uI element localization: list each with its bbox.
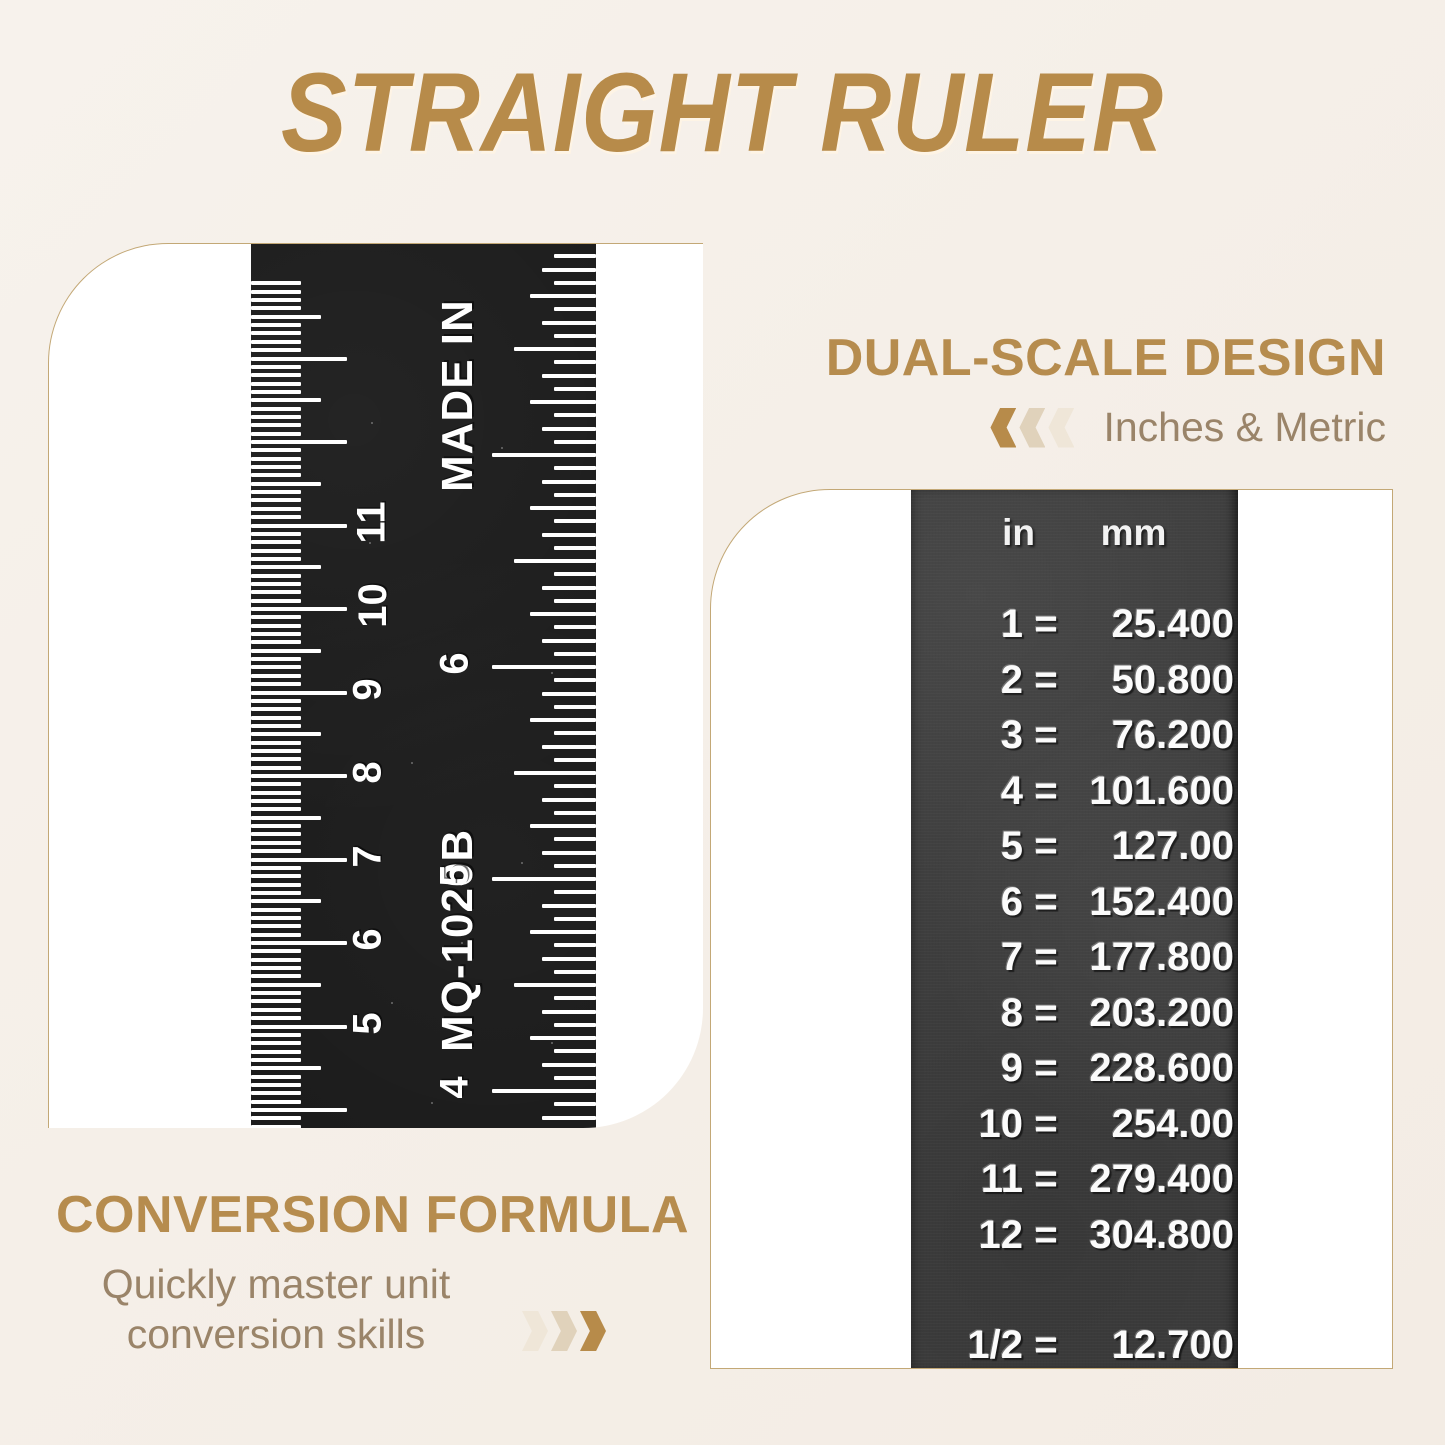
conversion-inch-value: 10 xyxy=(911,1102,1023,1147)
ruler-metric-tick xyxy=(251,348,301,352)
ruler-metric-tick xyxy=(251,1058,301,1062)
ruler-inch-tick xyxy=(542,1010,596,1014)
conversion-equals-sign: = xyxy=(1023,1157,1069,1202)
ruler-metric-tick xyxy=(251,415,301,419)
ruler-metric-tick xyxy=(251,665,301,669)
ruler-metric-tick xyxy=(251,682,301,686)
ruler-inch-tick xyxy=(554,546,596,550)
conversion-formula-heading: CONVERSION FORMULA xyxy=(56,1185,696,1245)
conversion-equals-sign: = xyxy=(1023,1213,1069,1258)
conversion-row: 7=177.800 xyxy=(911,935,1238,991)
ruler-metric-tick xyxy=(251,949,301,953)
conversion-mm-value: 50.800 xyxy=(1069,658,1234,703)
ruler-metric-tick xyxy=(251,1008,301,1012)
ruler-inch-tick xyxy=(530,718,596,722)
conversion-mm-value: 25.400 xyxy=(1069,602,1234,647)
ruler-metric-label-11: 11 xyxy=(350,501,395,543)
ruler-speckle xyxy=(391,1002,393,1004)
conversion-inch-value: 4 xyxy=(911,769,1023,814)
conversion-inch-value: 11 xyxy=(911,1157,1023,1202)
conversion-table-gap xyxy=(911,1268,1238,1323)
ruler-inch-label-5: 5 xyxy=(433,865,478,887)
conversion-inch-value: 12 xyxy=(911,1213,1023,1258)
ruler-metric-tick xyxy=(251,699,301,703)
ruler-metric-tick xyxy=(251,1041,301,1045)
ruler-metric-label-10: 10 xyxy=(351,583,396,628)
conversion-row: 1=25.400 xyxy=(911,602,1238,658)
ruler-inch-tick xyxy=(530,1036,596,1040)
dual-scale-subrow: Inches & Metric xyxy=(806,404,1386,451)
ruler-metric-tick xyxy=(251,448,301,452)
ruler-metric-tick xyxy=(251,382,301,386)
ruler-metric-tick xyxy=(251,1100,301,1104)
ruler-inch-tick xyxy=(554,1102,596,1106)
conversion-row: 6=152.400 xyxy=(911,880,1238,936)
conversion-mm-value: 228.600 xyxy=(1069,1046,1234,1091)
ruler-metric-tick xyxy=(251,365,301,369)
ruler-inch-tick xyxy=(554,731,596,735)
ruler-metric-tick xyxy=(251,599,301,603)
conversion-inch-value: 7 xyxy=(911,935,1023,980)
ruler-inch-tick xyxy=(542,268,596,272)
ruler-metric-tick xyxy=(251,916,301,920)
ruler-inch-tick xyxy=(554,996,596,1000)
conversion-equals-sign: = xyxy=(1023,658,1069,703)
ruler-inch-tick xyxy=(492,453,596,457)
ruler-metric-tick xyxy=(251,340,301,344)
ruler-metric-tick xyxy=(251,732,321,736)
ruler-inch-tick xyxy=(554,440,596,444)
ruler-photo-metric-inch: MQ-1020B MADE IN 567891011456 xyxy=(251,243,596,1128)
chevron-right-group xyxy=(522,1311,609,1351)
ruler-metric-tick xyxy=(251,498,301,502)
ruler-metric-label-8: 8 xyxy=(346,761,391,783)
ruler-inch-tick xyxy=(554,1023,596,1027)
conversion-mm-value: 279.400 xyxy=(1069,1157,1234,1202)
ruler-metric-tick xyxy=(251,490,301,494)
ruler-inch-tick xyxy=(554,970,596,974)
ruler-inch-tick xyxy=(554,678,596,682)
conversion-equals-sign: = xyxy=(1023,935,1069,980)
ruler-inch-tick xyxy=(542,321,596,325)
ruler-speckle xyxy=(369,542,371,544)
ruler-metric-tick xyxy=(251,390,301,394)
ruler-metric-tick xyxy=(251,924,301,928)
ruler-speckle xyxy=(501,447,503,449)
conversion-equals-sign: = xyxy=(1023,769,1069,814)
ruler-metric-tick xyxy=(251,1108,347,1112)
ruler-inch-tick xyxy=(554,599,596,603)
ruler-metric-tick xyxy=(251,1033,301,1037)
conversion-sub-line-2: conversion skills xyxy=(56,1309,496,1359)
ruler-metric-tick xyxy=(251,691,347,695)
ruler-inch-tick xyxy=(554,254,596,258)
ruler-inch-tick xyxy=(542,586,596,590)
ruler-metric-tick xyxy=(251,749,301,753)
ruler-inch-tick xyxy=(554,625,596,629)
conversion-mm-value: 203.200 xyxy=(1069,991,1234,1036)
ruler-inch-tick xyxy=(554,413,596,417)
ruler-inch-tick xyxy=(554,281,596,285)
conversion-sub-line-1: Quickly master unit xyxy=(56,1259,496,1309)
ruler-inch-tick xyxy=(554,519,596,523)
ruler-inch-tick xyxy=(554,1076,596,1080)
ruler-metric-tick xyxy=(251,582,301,586)
ruler-metric-tick xyxy=(251,507,301,511)
ruler-metric-label-6: 6 xyxy=(346,928,391,950)
ruler-inch-tick xyxy=(542,427,596,431)
right-product-card: in mm 1=25.4002=50.8003=76.2004=101.6005… xyxy=(710,489,1393,1369)
ruler-metric-tick xyxy=(251,657,301,661)
ruler-inch-tick xyxy=(554,811,596,815)
ruler-inch-tick xyxy=(492,877,596,881)
ruler-inch-tick xyxy=(542,639,596,643)
ruler-inch-label-6: 6 xyxy=(433,653,478,675)
ruler-metric-tick xyxy=(251,482,321,486)
ruler-metric-tick xyxy=(251,899,321,903)
ruler-metric-tick xyxy=(251,398,321,402)
ruler-inch-tick xyxy=(542,798,596,802)
chevron-right-mid-icon xyxy=(551,1311,577,1351)
conversion-mm-value: 177.800 xyxy=(1069,935,1234,980)
conversion-inch-value: 6 xyxy=(911,880,1023,925)
conversion-row: 10=254.00 xyxy=(911,1102,1238,1158)
chevron-right-light-icon xyxy=(522,1311,548,1351)
ruler-inch-tick xyxy=(554,864,596,868)
ruler-metric-tick xyxy=(251,465,301,469)
ruler-metric-tick xyxy=(251,724,301,728)
ruler-brand-label: MQ-1020B xyxy=(433,829,483,1052)
ruler-inch-tick xyxy=(554,890,596,894)
ruler-speckle xyxy=(551,672,553,674)
ruler-speckle xyxy=(431,1102,433,1104)
conversion-inch-value: 1/2 xyxy=(911,1323,1023,1368)
ruler-metric-tick xyxy=(251,874,301,878)
ruler-metric-tick xyxy=(251,991,301,995)
conversion-whole-rows: 1=25.4002=50.8003=76.2004=101.6005=127.0… xyxy=(911,602,1238,1268)
ruler-metric-tick xyxy=(251,1091,301,1095)
ruler-metric-label-9: 9 xyxy=(346,678,391,700)
ruler-metric-tick xyxy=(251,1016,301,1020)
ruler-metric-tick xyxy=(251,373,301,377)
ruler-metric-tick xyxy=(251,1075,301,1079)
ruler-metric-tick xyxy=(251,315,321,319)
ruler-inch-tick xyxy=(554,387,596,391)
ruler-inch-tick xyxy=(542,851,596,855)
left-product-card: MQ-1020B MADE IN 567891011456 xyxy=(48,243,703,1128)
conversion-row: 5=127.00 xyxy=(911,824,1238,880)
ruler-metric-tick xyxy=(251,782,301,786)
conversion-row: 9=228.600 xyxy=(911,1046,1238,1102)
ruler-metric-tick xyxy=(251,674,301,678)
ruler-metric-tick xyxy=(251,933,301,937)
ruler-inch-tick xyxy=(492,665,596,669)
ruler-inch-tick xyxy=(554,705,596,709)
conversion-mm-value: 127.00 xyxy=(1069,824,1234,869)
ruler-inch-tick xyxy=(554,493,596,497)
ruler-metric-tick xyxy=(251,1116,301,1120)
ruler-inch-tick xyxy=(554,466,596,470)
ruler-inch-tick xyxy=(554,652,596,656)
ruler-inch-tick xyxy=(554,1049,596,1053)
ruler-metric-tick xyxy=(251,866,301,870)
ruler-speckle xyxy=(551,1042,553,1044)
ruler-metric-tick xyxy=(251,615,301,619)
ruler-metric-tick xyxy=(251,966,301,970)
ruler-metric-tick xyxy=(251,841,301,845)
ruler-inch-tick xyxy=(554,572,596,576)
conversion-mm-value: 304.800 xyxy=(1069,1213,1234,1258)
ruler-inch-tick xyxy=(542,745,596,749)
ruler-inch-tick xyxy=(542,904,596,908)
ruler-inch-tick xyxy=(554,334,596,338)
dual-scale-subheading: Inches & Metric xyxy=(1103,404,1386,451)
ruler-inch-tick xyxy=(530,930,596,934)
conversion-row: 8=203.200 xyxy=(911,991,1238,1047)
ruler-metric-tick xyxy=(251,298,301,302)
ruler-metric-tick xyxy=(251,757,301,761)
ruler-metric-tick xyxy=(251,849,301,853)
ruler-inch-tick xyxy=(530,612,596,616)
ruler-metric-tick xyxy=(251,574,301,578)
conversion-inch-value: 9 xyxy=(911,1046,1023,1091)
ruler-inch-tick xyxy=(514,983,596,987)
conversion-row: 4=101.600 xyxy=(911,769,1238,825)
ruler-inch-tick xyxy=(530,506,596,510)
ruler-metric-tick xyxy=(251,432,301,436)
ruler-metric-tick xyxy=(251,983,321,987)
ruler-metric-tick xyxy=(251,1025,347,1029)
conversion-inch-value: 8 xyxy=(911,991,1023,1036)
ruler-inch-tick xyxy=(530,824,596,828)
chevron-left-mid-icon xyxy=(1019,408,1045,448)
ruler-metric-tick xyxy=(251,557,301,561)
ruler-metric-tick xyxy=(251,532,301,536)
ruler-metric-tick xyxy=(251,423,301,427)
ruler-metric-tick xyxy=(251,791,301,795)
ruler-metric-tick xyxy=(251,1125,301,1128)
ruler-metric-tick xyxy=(251,357,347,361)
ruler-speckle xyxy=(461,942,463,944)
ruler-metric-tick xyxy=(251,649,321,653)
ruler-metric-tick xyxy=(251,331,301,335)
conversion-fraction-rows: 1/2=12.7001/4=6.35003/4=19.05001/8=3.175… xyxy=(911,1323,1238,1369)
ruler-metric-tick xyxy=(251,858,347,862)
conversion-mm-value: 101.600 xyxy=(1069,769,1234,814)
ruler-inch-tick xyxy=(542,480,596,484)
conversion-mm-value: 254.00 xyxy=(1069,1102,1234,1147)
conversion-formula-subheading: Quickly master unit conversion skills xyxy=(56,1259,496,1359)
ruler-metric-tick xyxy=(251,1083,301,1087)
column-header-in: in xyxy=(911,512,1041,554)
conversion-equals-sign: = xyxy=(1023,824,1069,869)
ruler-metric-tick xyxy=(251,741,301,745)
ruler-inch-tick xyxy=(492,1089,596,1093)
ruler-metric-tick xyxy=(251,281,301,285)
conversion-table: in mm 1=25.4002=50.8003=76.2004=101.6005… xyxy=(911,489,1238,1369)
dual-scale-feature-block: DUAL-SCALE DESIGN Inches & Metric xyxy=(806,328,1386,451)
ruler-metric-tick xyxy=(251,908,301,912)
ruler-metric-tick xyxy=(251,1066,321,1070)
conversion-equals-sign: = xyxy=(1023,880,1069,925)
ruler-inch-tick xyxy=(542,374,596,378)
chevron-right-dark-icon xyxy=(580,1311,606,1351)
ruler-inch-tick xyxy=(542,533,596,537)
ruler-inch-tick xyxy=(542,692,596,696)
ruler-inch-tick xyxy=(514,559,596,563)
ruler-speckle xyxy=(371,422,373,424)
ruler-metric-tick xyxy=(251,891,301,895)
ruler-metric-tick xyxy=(251,766,301,770)
ruler-metric-tick xyxy=(251,524,347,528)
conversion-equals-sign: = xyxy=(1023,1323,1069,1368)
ruler-metric-tick xyxy=(251,607,347,611)
ruler-metric-tick xyxy=(251,774,347,778)
chevron-left-group xyxy=(990,408,1077,448)
page-title: STRAIGHT RULER xyxy=(87,48,1359,177)
conversion-mm-value: 152.400 xyxy=(1069,880,1234,925)
ruler-inch-tick xyxy=(514,771,596,775)
ruler-metric-tick xyxy=(251,707,301,711)
ruler-inch-tick xyxy=(542,1063,596,1067)
conversion-equals-sign: = xyxy=(1023,713,1069,758)
ruler-inch-tick xyxy=(554,307,596,311)
ruler-inch-tick xyxy=(554,917,596,921)
ruler-inch-tick xyxy=(554,943,596,947)
conversion-equals-sign: = xyxy=(1023,1102,1069,1147)
conversion-equals-sign: = xyxy=(1023,1046,1069,1091)
ruler-metric-tick xyxy=(251,440,347,444)
ruler-metric-label-7: 7 xyxy=(346,845,391,867)
ruler-speckle xyxy=(411,762,413,764)
ruler-metric-tick xyxy=(251,590,301,594)
conversion-table-header-row: in mm xyxy=(911,512,1238,554)
ruler-inch-tick xyxy=(542,1116,596,1120)
conversion-mm-value: 12.700 xyxy=(1069,1323,1234,1368)
ruler-inch-tick xyxy=(554,758,596,762)
conversion-row: 2=50.800 xyxy=(911,658,1238,714)
ruler-inch-tick xyxy=(554,360,596,364)
ruler-metric-tick xyxy=(251,999,301,1003)
conversion-row: 11=279.400 xyxy=(911,1157,1238,1213)
ruler-inch-tick xyxy=(554,837,596,841)
ruler-metric-label-5: 5 xyxy=(346,1012,391,1034)
conversion-equals-sign: = xyxy=(1023,602,1069,647)
ruler-metric-tick xyxy=(251,974,301,978)
ruler-metric-tick xyxy=(251,473,301,477)
conversion-inch-value: 1 xyxy=(911,602,1023,647)
dual-scale-heading: DUAL-SCALE DESIGN xyxy=(806,328,1386,388)
ruler-metric-tick xyxy=(251,624,301,628)
ruler-metric-tick xyxy=(251,632,301,636)
ruler-metric-tick xyxy=(251,640,301,644)
conversion-formula-feature-block: CONVERSION FORMULA Quickly master unit c… xyxy=(56,1185,696,1359)
column-header-mm: mm xyxy=(1041,512,1226,554)
ruler-metric-tick xyxy=(251,1050,301,1054)
ruler-metric-tick xyxy=(251,323,301,327)
conversion-equals-sign: = xyxy=(1023,991,1069,1036)
ruler-inch-tick xyxy=(554,784,596,788)
conversion-inch-value: 2 xyxy=(911,658,1023,703)
ruler-inch-tick xyxy=(530,294,596,298)
ruler-made-in-label: MADE IN xyxy=(433,299,483,492)
ruler-metric-tick xyxy=(251,549,301,553)
ruler-metric-tick xyxy=(251,832,301,836)
ruler-metric-tick xyxy=(251,807,301,811)
ruler-metric-tick xyxy=(251,799,301,803)
conversion-row: 12=304.800 xyxy=(911,1213,1238,1269)
ruler-inch-label-4: 4 xyxy=(433,1077,478,1099)
conversion-inch-value: 5 xyxy=(911,824,1023,869)
chevron-left-light-icon xyxy=(1048,408,1074,448)
ruler-inch-tick xyxy=(542,957,596,961)
ruler-metric-tick xyxy=(251,540,301,544)
ruler-metric-tick xyxy=(251,716,301,720)
ruler-inch-tick xyxy=(514,347,596,351)
ruler-metric-tick xyxy=(251,816,321,820)
conversion-row: 3=76.200 xyxy=(911,713,1238,769)
ruler-inch-tick xyxy=(530,400,596,404)
ruler-metric-tick xyxy=(251,290,301,294)
conversion-table-ruler-photo: in mm 1=25.4002=50.8003=76.2004=101.6005… xyxy=(911,489,1238,1369)
ruler-metric-tick xyxy=(251,883,301,887)
conversion-row: 1/2=12.700 xyxy=(911,1323,1238,1369)
ruler-metric-tick xyxy=(251,306,301,310)
ruler-metric-tick xyxy=(251,941,347,945)
chevron-left-dark-icon xyxy=(990,408,1016,448)
conversion-formula-subrow: Quickly master unit conversion skills xyxy=(56,1259,696,1359)
ruler-speckle xyxy=(521,862,523,864)
ruler-metric-tick xyxy=(251,565,321,569)
ruler-metric-tick xyxy=(251,457,301,461)
ruler-metric-tick xyxy=(251,958,301,962)
ruler-metric-tick xyxy=(251,515,301,519)
conversion-mm-value: 76.200 xyxy=(1069,713,1234,758)
ruler-metric-tick xyxy=(251,407,301,411)
conversion-inch-value: 3 xyxy=(911,713,1023,758)
ruler-metric-tick xyxy=(251,824,301,828)
